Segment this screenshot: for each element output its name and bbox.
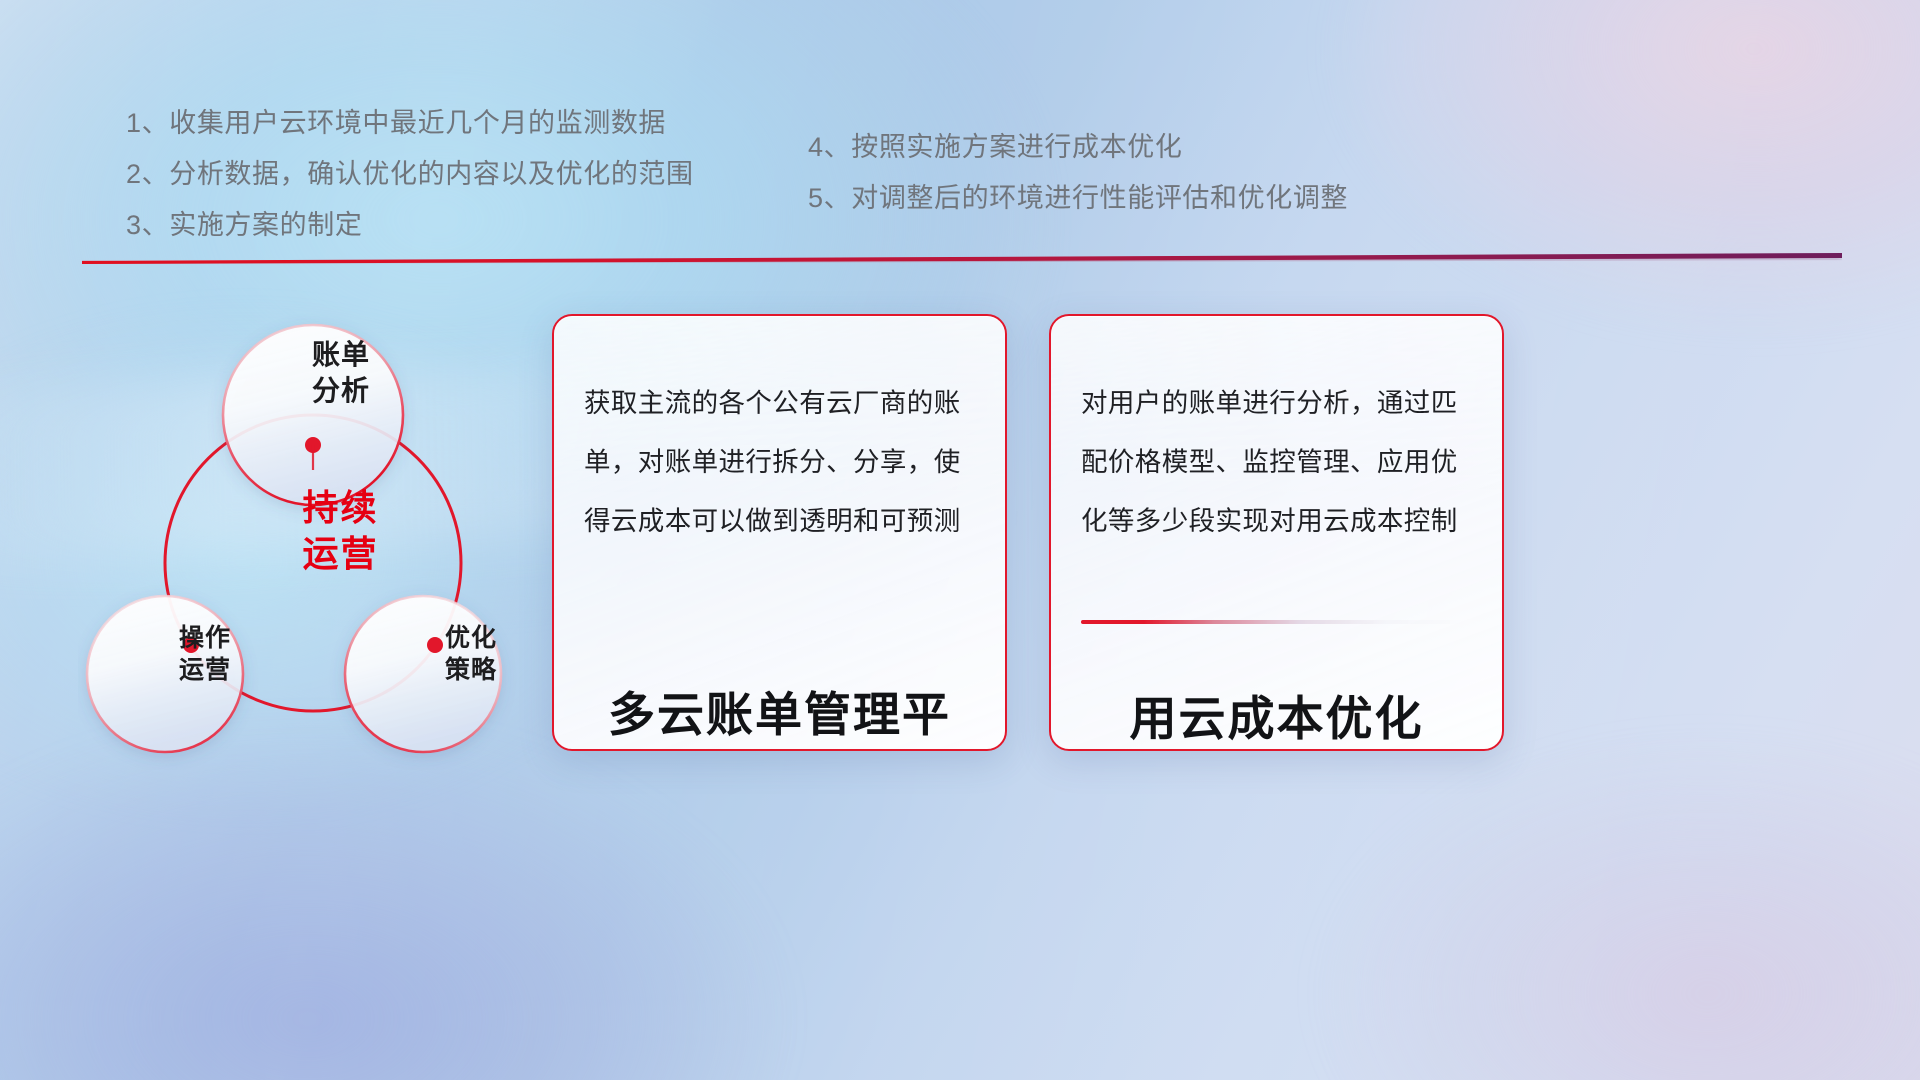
card-accent-rule (1081, 620, 1472, 624)
diagram-center-label-line1: 持续 (258, 485, 423, 531)
bubble-label-ops-operation-line2: 运营 (130, 654, 280, 686)
step-item-2: 2、分析数据，确认优化的内容以及优化的范围 (126, 149, 694, 200)
bubble-label-bill-analysis-line2: 分析 (266, 373, 416, 409)
bubble-label-optimization-strategy: 优化 策略 (396, 622, 546, 686)
bubble-label-bill-analysis-line1: 账单 (266, 337, 416, 373)
step-item-5: 5、对调整后的环境进行性能评估和优化调整 (808, 173, 1348, 224)
continuous-operation-diagram: 账单 分析 持续 运营 操作 运营 优化 策略 (78, 290, 548, 770)
steps-left-column: 1、收集用户云环境中最近几个月的监测数据 2、分析数据，确认优化的内容以及优化的… (126, 98, 694, 251)
bubble-label-ops-operation-line1: 操作 (130, 622, 280, 654)
feature-cards: 获取主流的各个公有云厂商的账单，对账单进行拆分、分享，使得云成本可以做到透明和可… (552, 314, 1852, 754)
card-multi-cloud-bill-platform[interactable]: 获取主流的各个公有云厂商的账单，对账单进行拆分、分享，使得云成本可以做到透明和可… (552, 314, 1007, 751)
card-body-text: 对用户的账单进行分析，通过匹配价格模型、监控管理、应用优化等多少段实现对用云成本… (1081, 374, 1472, 610)
bubble-label-bill-analysis: 账单 分析 (266, 337, 416, 409)
diagram-center-label: 持续 运营 (258, 485, 423, 577)
step-item-1: 1、收集用户云环境中最近几个月的监测数据 (126, 98, 694, 149)
section-divider (82, 253, 1842, 264)
bubble-label-optimization-strategy-line1: 优化 (396, 622, 546, 654)
diagram-center-label-line2: 运营 (258, 531, 423, 577)
card-cloud-cost-optimization[interactable]: 对用户的账单进行分析，通过匹配价格模型、监控管理、应用优化等多少段实现对用云成本… (1049, 314, 1504, 751)
step-item-4: 4、按照实施方案进行成本优化 (808, 122, 1348, 173)
bubble-label-optimization-strategy-line2: 策略 (396, 654, 546, 686)
card-title: 多云账单管理平台 (584, 676, 975, 751)
step-item-3: 3、实施方案的制定 (126, 200, 694, 251)
divider-bar (82, 253, 1842, 264)
steps-right-column: 4、按照实施方案进行成本优化 5、对调整后的环境进行性能评估和优化调整 (808, 122, 1348, 224)
bubble-label-ops-operation: 操作 运营 (130, 622, 280, 686)
process-steps-list: 1、收集用户云环境中最近几个月的监测数据 2、分析数据，确认优化的内容以及优化的… (0, 0, 1920, 260)
card-body-text: 获取主流的各个公有云厂商的账单，对账单进行拆分、分享，使得云成本可以做到透明和可… (584, 374, 975, 610)
card-title: 用云成本优化 (1081, 680, 1472, 749)
